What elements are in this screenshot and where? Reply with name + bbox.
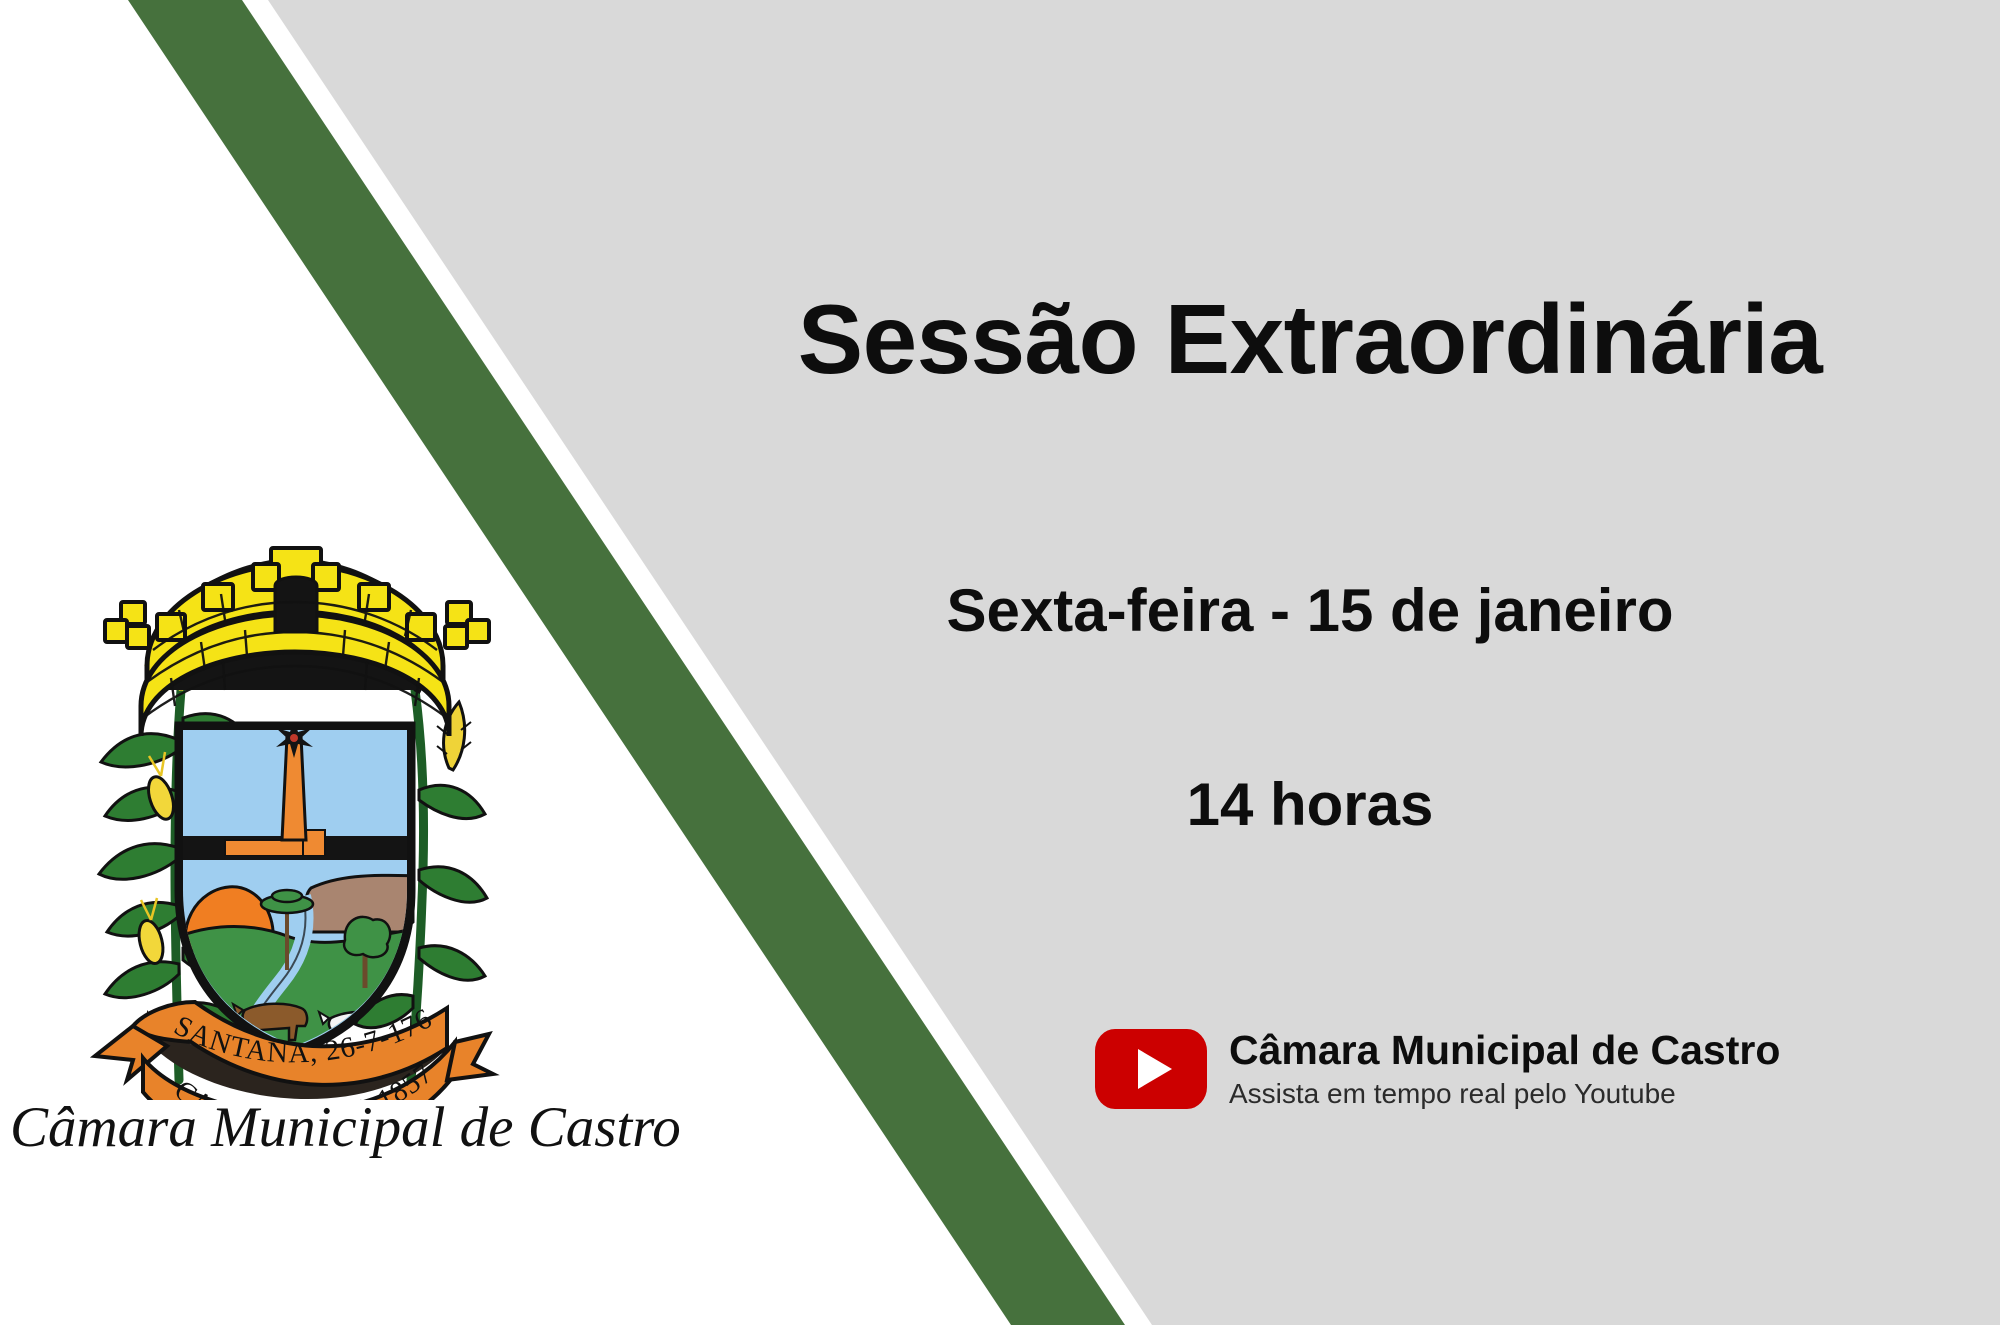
youtube-text-group: Câmara Municipal de Castro Assista em te… (1229, 1028, 1780, 1109)
coat-of-arms: SANTANA, 26-7-1769 CASTRO 21-1-1857 (75, 540, 515, 1100)
session-time: 14 horas (680, 772, 1940, 838)
session-date: Sexta-feira - 15 de janeiro (680, 578, 1940, 644)
mural-crown-icon (105, 548, 489, 736)
slide-canvas: SANTANA, 26-7-1769 CASTRO 21-1-1857 Câma… (0, 0, 2000, 1325)
crest-caption: Câmara Municipal de Castro (10, 1095, 710, 1160)
youtube-callout[interactable]: Câmara Municipal de Castro Assista em te… (1095, 1028, 1780, 1109)
youtube-play-icon[interactable] (1095, 1029, 1207, 1109)
youtube-subtitle: Assista em tempo real pelo Youtube (1229, 1078, 1780, 1109)
youtube-channel-name: Câmara Municipal de Castro (1229, 1028, 1780, 1074)
play-triangle-icon (1138, 1049, 1172, 1089)
content-column: Sessão Extraordinária Sexta-feira - 15 d… (680, 0, 2000, 1325)
page-title: Sessão Extraordinária (680, 288, 1940, 391)
